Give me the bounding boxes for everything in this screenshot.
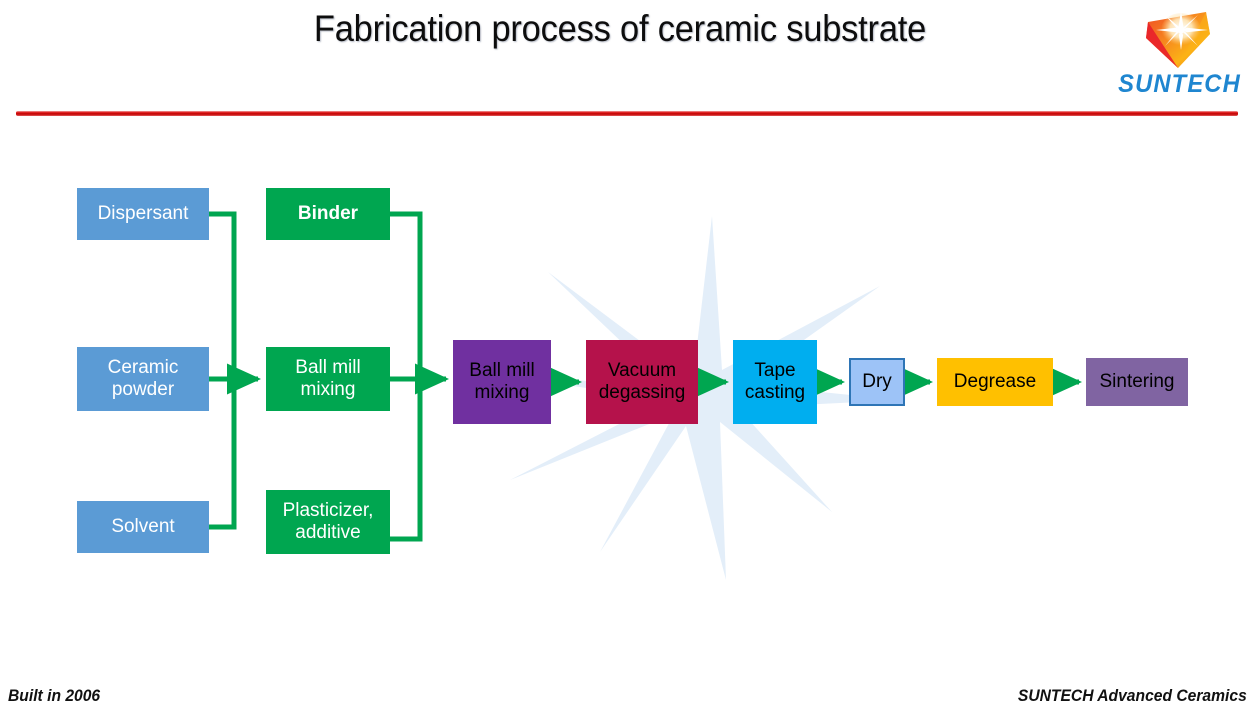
flow-box-sintering[interactable]: Sintering: [1086, 358, 1188, 406]
flow-box-vacuum-degassing[interactable]: Vacuum degassing: [586, 340, 698, 424]
slide-canvas: Fabrication process of ceramic substrate: [0, 0, 1255, 711]
flow-box-ball-mill-mixing-1[interactable]: Ball mill mixing: [266, 347, 390, 411]
flow-box-dry[interactable]: Dry: [849, 358, 905, 406]
logo-wordmark: SUNTECH: [1115, 70, 1243, 99]
footer-left-text: Built in 2006: [8, 686, 100, 706]
flow-box-degrease[interactable]: Degrease: [937, 358, 1053, 406]
flow-box-dispersant[interactable]: Dispersant: [77, 188, 209, 240]
header-divider: [16, 111, 1238, 116]
footer-right-text: SUNTECH Advanced Ceramics: [1018, 686, 1247, 706]
flow-box-solvent[interactable]: Solvent: [77, 501, 209, 553]
suntech-logo: SUNTECH: [1112, 8, 1247, 100]
flow-box-binder[interactable]: Binder: [266, 188, 390, 240]
flow-box-ceramic-powder[interactable]: Ceramic powder: [77, 347, 209, 411]
flow-box-ball-mill-mixing-2[interactable]: Ball mill mixing: [453, 340, 551, 424]
flow-box-tape-casting[interactable]: Tape casting: [733, 340, 817, 424]
suntech-diamond-sunburst-icon: [1140, 8, 1218, 70]
page-title: Fabrication process of ceramic substrate: [202, 8, 1039, 50]
flow-box-plasticizer-additive[interactable]: Plasticizer, additive: [266, 490, 390, 554]
